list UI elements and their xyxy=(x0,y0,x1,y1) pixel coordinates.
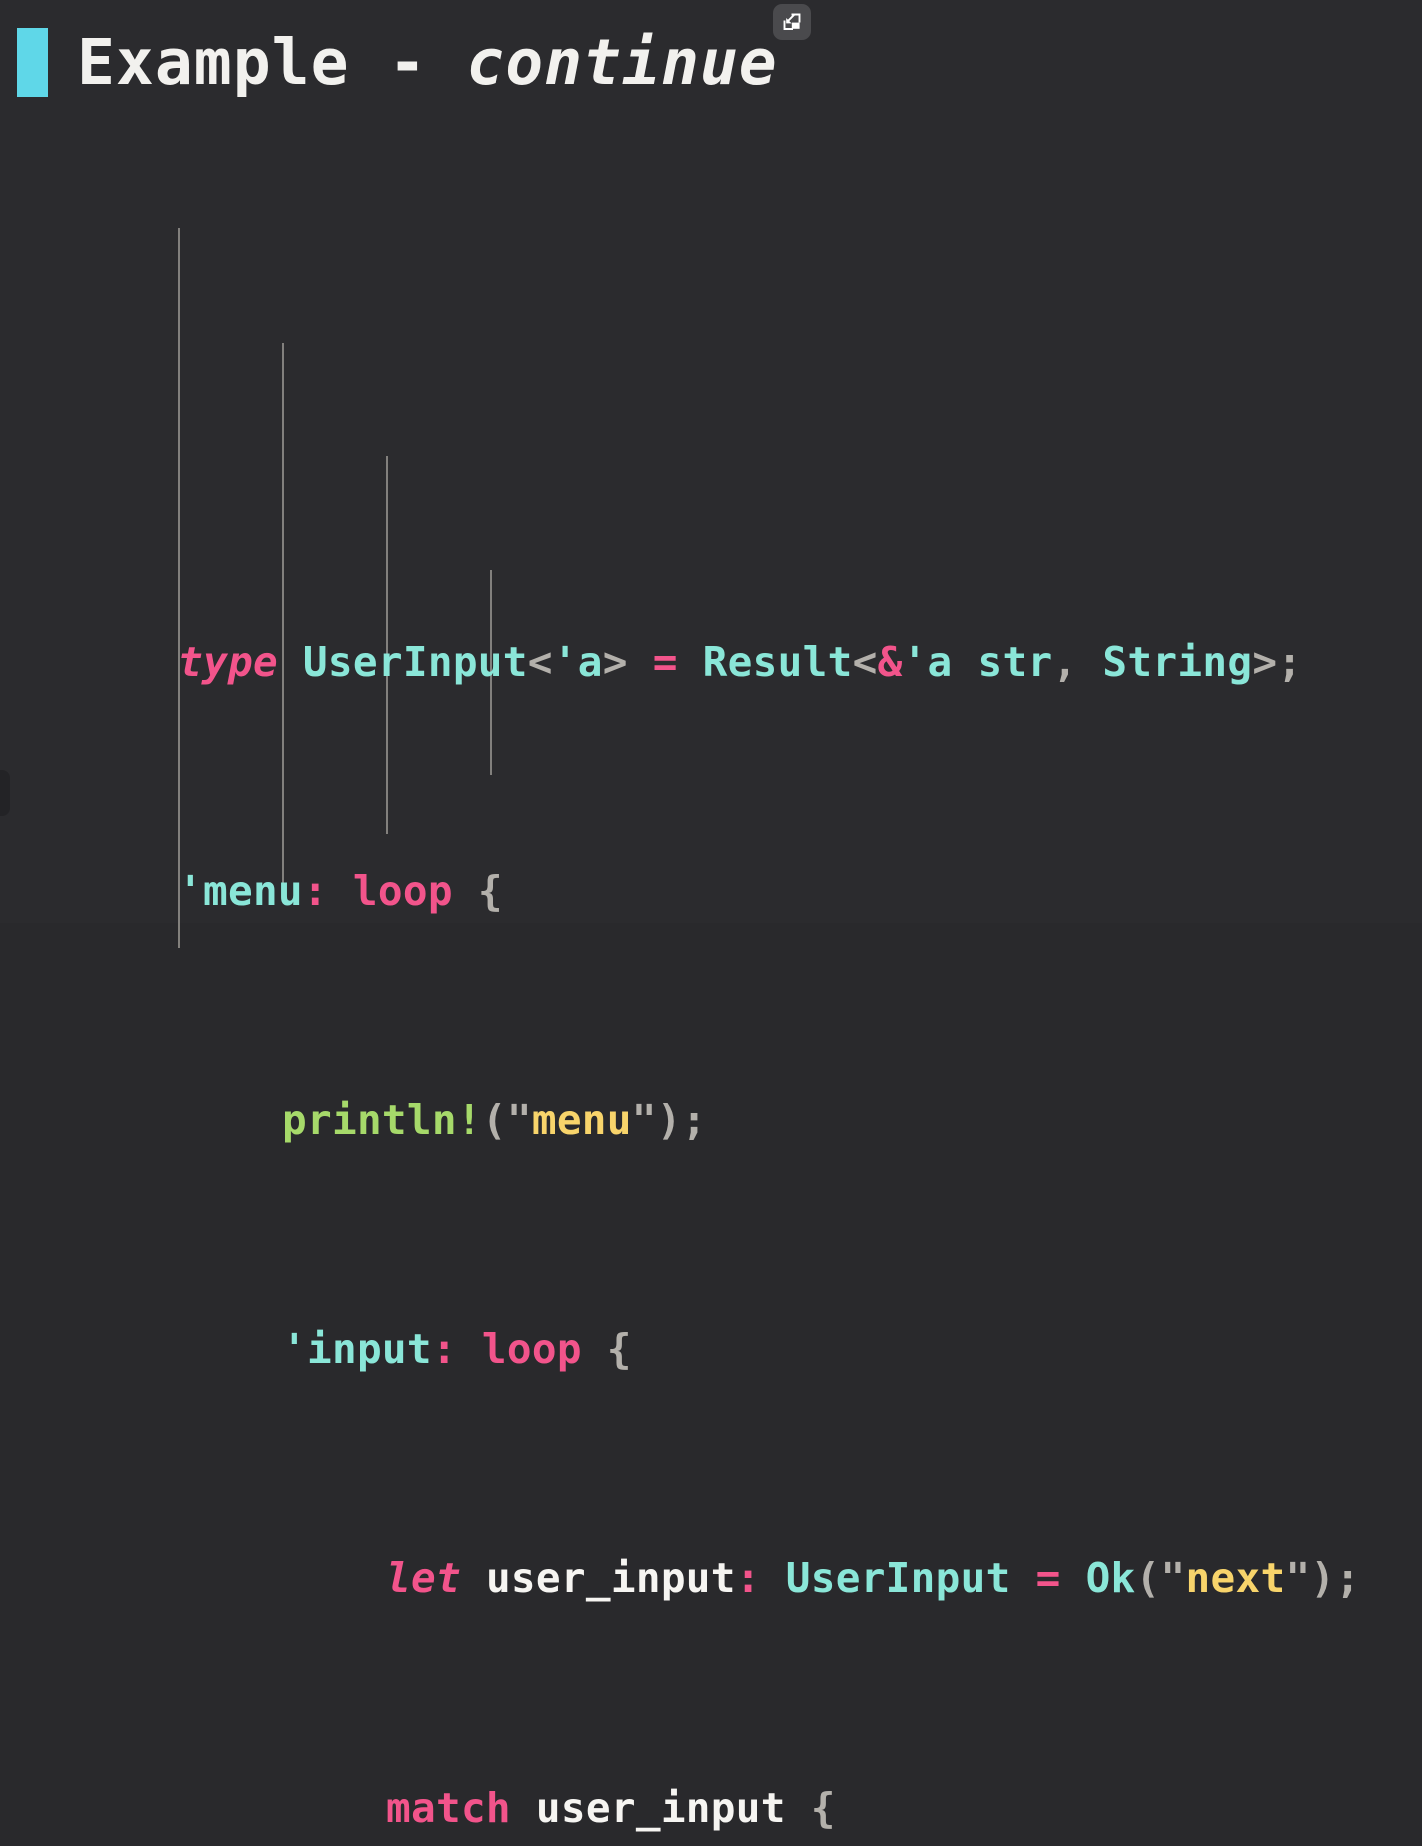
token-equals: = xyxy=(1036,1554,1061,1602)
token-keyword-let: let xyxy=(386,1554,461,1602)
token-quote-paren-close: "); xyxy=(1285,1554,1360,1602)
code-line: type UserInput<'a> = Result<&'a str, Str… xyxy=(0,634,1422,691)
token-type-str: str xyxy=(978,638,1053,686)
title-bold-part: Example - xyxy=(77,26,466,99)
code-block: type UserInput<'a> = Result<&'a str, Str… xyxy=(0,118,1422,1846)
indent-guide-2 xyxy=(282,343,284,891)
token-type-userinput: UserInput xyxy=(303,638,528,686)
token-macro-println: println! xyxy=(282,1096,482,1144)
title-italic-part: continue xyxy=(466,26,777,99)
token-lifetime-a: 'a xyxy=(553,638,603,686)
token-keyword-loop: loop xyxy=(482,1325,582,1373)
token-type-string: String xyxy=(1102,638,1252,686)
title-accent-bar xyxy=(17,28,48,97)
code-line: let user_input: UserInput = Ok("next"); xyxy=(0,1550,1422,1607)
code-line: match user_input { xyxy=(0,1780,1422,1837)
picture-in-picture-button[interactable] xyxy=(773,4,811,40)
token-generic-close: >; xyxy=(1252,638,1302,686)
token-angle-open: < xyxy=(528,638,553,686)
token-label-input: 'input xyxy=(282,1325,432,1373)
token-angle-close: > xyxy=(603,638,628,686)
slide-canvas: Example - continue type UserInput<'a> = … xyxy=(0,0,1422,923)
token-keyword-loop: loop xyxy=(353,867,453,915)
token-brace-open: { xyxy=(811,1784,836,1832)
token-lifetime-a2: 'a xyxy=(903,638,953,686)
title-text: Example - continue xyxy=(77,31,778,94)
token-label-menu: 'menu xyxy=(178,867,303,915)
token-generic-open: < xyxy=(853,638,878,686)
token-colon: : xyxy=(303,867,328,915)
token-var-user-input: user_input xyxy=(536,1784,786,1832)
token-type-userinput: UserInput xyxy=(786,1554,1011,1602)
token-keyword-match: match xyxy=(386,1784,511,1832)
token-comma: , xyxy=(1052,638,1102,686)
token-variant-ok: Ok xyxy=(1086,1554,1136,1602)
token-var-user-input: user_input xyxy=(486,1554,736,1602)
token-brace-open: { xyxy=(607,1325,632,1373)
token-paren-open-quote: (" xyxy=(482,1096,532,1144)
token-keyword-type: type xyxy=(178,638,278,686)
token-string-next: next xyxy=(1186,1554,1286,1602)
code-line: 'input: loop { xyxy=(0,1321,1422,1378)
token-colon: : xyxy=(736,1554,761,1602)
indent-guide-1 xyxy=(178,228,180,948)
code-line: 'menu: loop { xyxy=(0,863,1422,920)
token-string-menu: menu xyxy=(532,1096,632,1144)
picture-in-picture-icon xyxy=(782,12,802,32)
token-colon: : xyxy=(432,1325,457,1373)
token-paren-open-quote: (" xyxy=(1136,1554,1186,1602)
token-brace-open: { xyxy=(478,867,503,915)
token-quote-paren-close: "); xyxy=(632,1096,707,1144)
token-type-result: Result xyxy=(703,638,853,686)
page-title: Example - continue xyxy=(17,22,778,102)
token-equals: = xyxy=(653,638,678,686)
code-line: println!("menu"); xyxy=(0,1092,1422,1149)
token-ampersand: & xyxy=(878,638,903,686)
